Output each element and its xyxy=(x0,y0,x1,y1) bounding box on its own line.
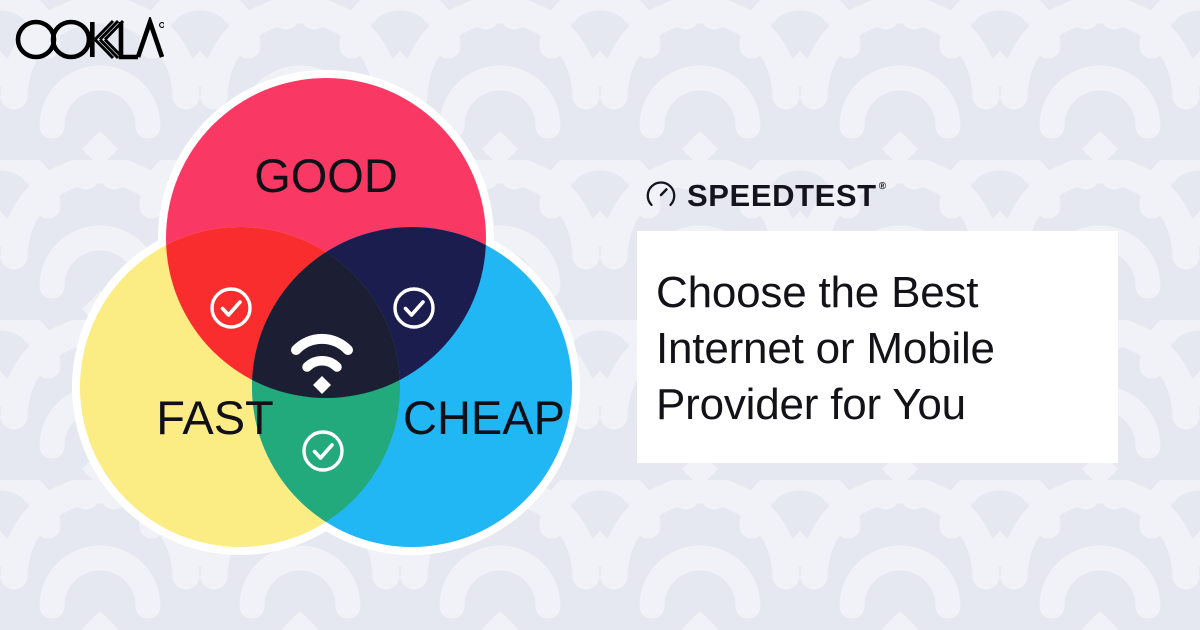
speedtest-name: SPEEDTEST xyxy=(687,180,877,211)
venn-diagram: GOOD FAST CHEAP xyxy=(50,62,610,572)
speedtest-logo-lockup[interactable]: SPEEDTEST ® xyxy=(646,172,1123,218)
poster-canvas: GOOD FAST CHEAP SPEEDTEST ® Choose the B… xyxy=(0,0,1200,630)
page-title: Choose the Best Internet or Mobile Provi… xyxy=(656,265,1078,433)
speedtest-wordmark: SPEEDTEST ® xyxy=(687,180,887,211)
venn-label-fast: FAST xyxy=(156,391,274,444)
venn-label-good: GOOD xyxy=(254,149,398,202)
headline-line-1: Choose the Best xyxy=(656,265,1078,321)
speedometer-gauge-icon xyxy=(646,180,676,210)
headline-card: Choose the Best Internet or Mobile Provi… xyxy=(637,231,1118,463)
venn-label-cheap: CHEAP xyxy=(403,391,565,444)
headline-line-2: Internet or Mobile xyxy=(656,321,1078,377)
registered-mark-icon xyxy=(160,23,164,28)
headline-line-3: Provider for You xyxy=(656,377,1078,433)
ookla-logo[interactable] xyxy=(14,17,164,63)
speedtest-registered-mark: ® xyxy=(879,182,887,192)
right-content-column: SPEEDTEST ® Choose the Best Internet or … xyxy=(637,172,1123,463)
